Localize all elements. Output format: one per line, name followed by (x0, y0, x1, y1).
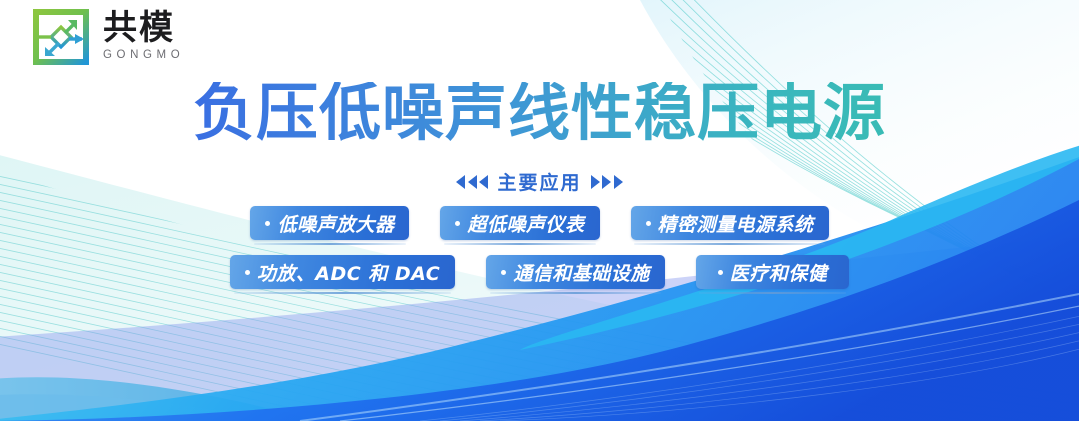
brand-logo[interactable]: 共模 GONGMO (32, 8, 184, 66)
application-item[interactable]: 功放、ADC 和 DAC (230, 255, 456, 294)
application-label: 精密测量电源系统 (658, 210, 814, 237)
bullet-dot-icon (646, 221, 651, 226)
bullet-dot-icon (501, 270, 506, 275)
application-item[interactable]: 超低噪声仪表 (440, 206, 599, 245)
application-label: 低噪声放大器 (277, 210, 394, 237)
gongmo-square-arrows-logo-icon (32, 8, 90, 66)
brand-name-en: GONGMO (103, 49, 184, 61)
triple-left-triangle-icon (456, 175, 488, 189)
application-pill[interactable]: 功放、ADC 和 DAC (230, 255, 456, 289)
application-pill[interactable]: 医疗和保健 (696, 255, 850, 289)
application-item[interactable]: 通信和基础设施 (486, 255, 665, 294)
application-pill[interactable]: 通信和基础设施 (486, 255, 665, 289)
application-item[interactable]: 医疗和保健 (696, 255, 850, 294)
application-label: 超低噪声仪表 (467, 210, 584, 237)
application-pill[interactable]: 超低噪声仪表 (440, 206, 599, 240)
pill-underline (254, 243, 407, 245)
bullet-dot-icon (455, 221, 460, 226)
application-item[interactable]: 精密测量电源系统 (631, 206, 829, 245)
pill-underline (490, 292, 661, 294)
bullet-dot-icon (718, 270, 723, 275)
brand-name-cn: 共模 (103, 11, 184, 47)
application-row-2: 功放、ADC 和 DAC 通信和基础设施 医疗和保健 (230, 255, 850, 294)
bullet-dot-icon (245, 270, 250, 275)
bullet-dot-icon (265, 221, 270, 226)
brand-wordmark: 共模 GONGMO (103, 11, 184, 64)
pill-underline (234, 292, 450, 294)
application-row-1: 低噪声放大器 超低噪声仪表 精密测量电源系统 (250, 206, 828, 245)
application-list: 低噪声放大器 超低噪声仪表 精密测量电源系统 (0, 206, 1079, 294)
application-item[interactable]: 低噪声放大器 (250, 206, 409, 245)
section-header: 主要应用 (0, 168, 1079, 195)
pill-underline (444, 243, 597, 245)
pill-underline (699, 292, 846, 294)
application-label: 功放、ADC 和 DAC (257, 259, 441, 286)
application-label: 通信和基础设施 (513, 259, 650, 286)
triple-right-triangle-icon (591, 175, 623, 189)
pill-underline (634, 243, 824, 245)
application-pill[interactable]: 低噪声放大器 (250, 206, 409, 240)
section-label: 主要应用 (497, 168, 581, 195)
page-title: 负压低噪声线性稳压电源 (0, 82, 1079, 144)
promo-banner: 共模 GONGMO 负压低噪声线性稳压电源 主要应用 (0, 0, 1079, 421)
application-pill[interactable]: 精密测量电源系统 (631, 206, 829, 240)
application-label: 医疗和保健 (730, 259, 828, 286)
